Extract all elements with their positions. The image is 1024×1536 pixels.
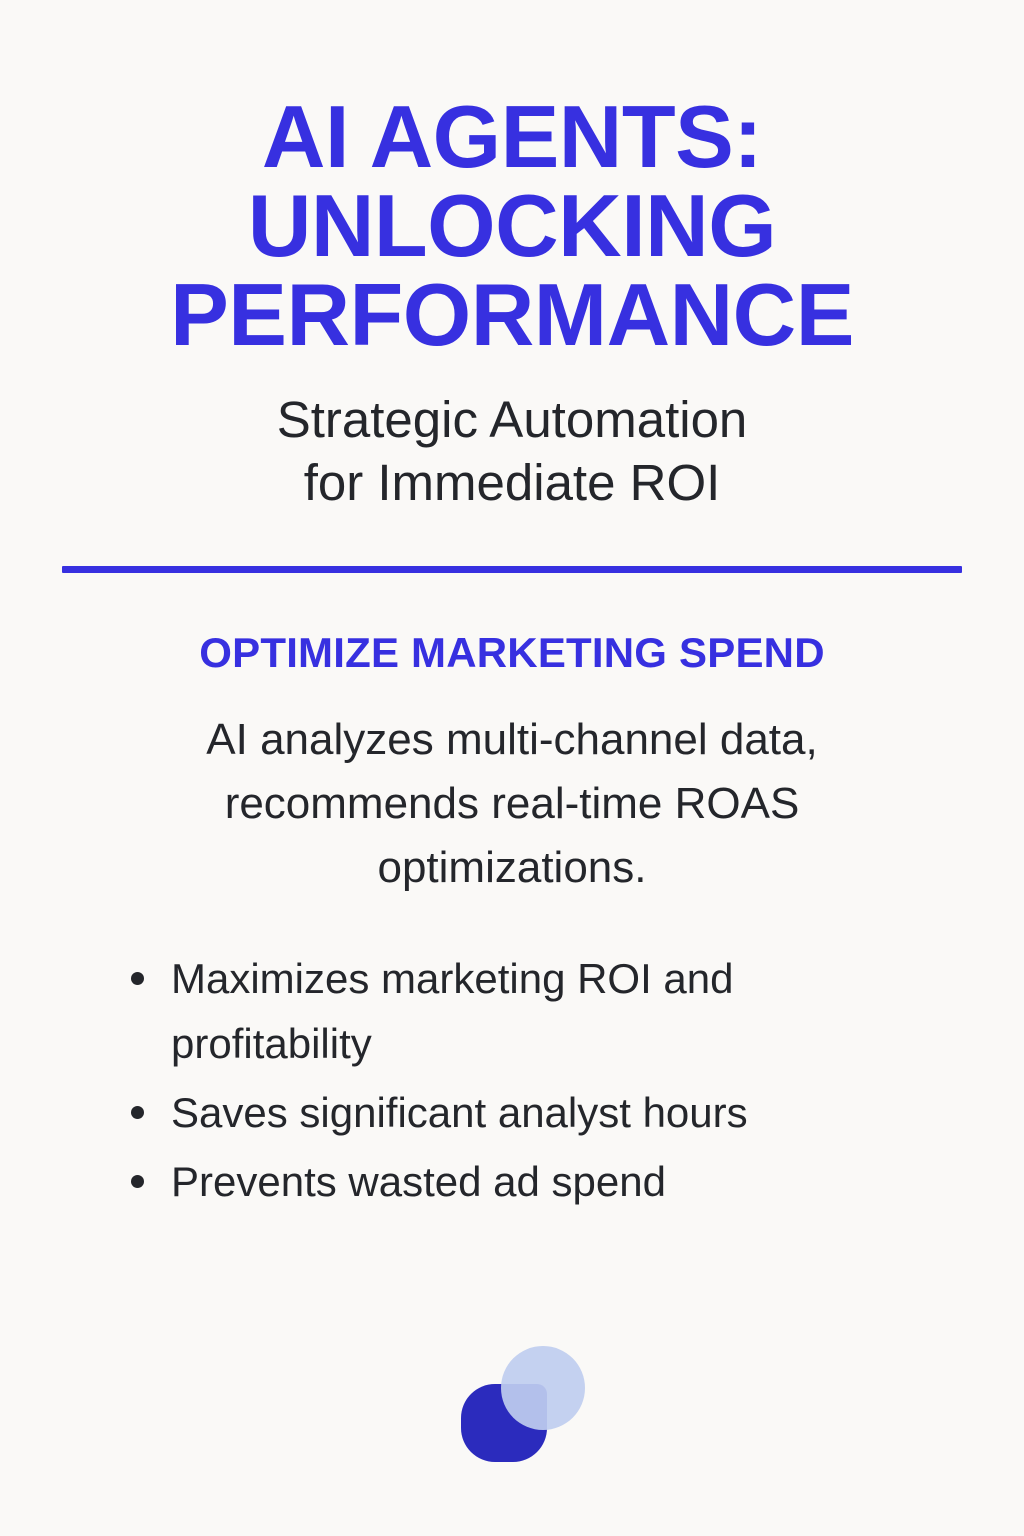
- list-item: Maximizes marketing ROI and profitabilit…: [117, 946, 907, 1076]
- list-item-label: Saves significant analyst hours: [171, 1089, 748, 1136]
- section-body-text: AI analyzes multi-channel data, recommen…: [132, 708, 892, 900]
- bullet-dot-icon: [131, 1106, 144, 1119]
- list-item: Saves significant analyst hours: [117, 1080, 907, 1145]
- logo-container: [0, 1340, 1024, 1470]
- title-block: AI AGENTS: UNLOCKING PERFORMANCE Strateg…: [0, 92, 1024, 514]
- section-heading: OPTIMIZE MARKETING SPEND: [0, 628, 1024, 678]
- bullet-dot-icon: [131, 972, 144, 985]
- list-item-label: Maximizes marketing ROI and profitabilit…: [171, 955, 734, 1067]
- list-item-label: Prevents wasted ad spend: [171, 1158, 666, 1205]
- page-title: AI AGENTS: UNLOCKING PERFORMANCE: [0, 92, 1024, 359]
- page-subtitle-line-2: for Immediate ROI: [0, 451, 1024, 514]
- page-title-line-1: AI AGENTS:: [0, 92, 1024, 181]
- section-divider: [62, 566, 962, 573]
- page-subtitle-line-1: Strategic Automation: [0, 388, 1024, 451]
- page-title-line-2: UNLOCKING: [0, 181, 1024, 270]
- content-section: OPTIMIZE MARKETING SPEND AI analyzes mul…: [0, 573, 1024, 1218]
- benefits-list: Maximizes marketing ROI and profitabilit…: [117, 946, 907, 1214]
- bullet-dot-icon: [131, 1175, 144, 1188]
- brand-logo-icon: [447, 1340, 577, 1470]
- list-item: Prevents wasted ad spend: [117, 1149, 907, 1214]
- page-subtitle: Strategic Automation for Immediate ROI: [0, 388, 1024, 514]
- logo-circle-shape: [501, 1346, 585, 1430]
- slide-card: AI AGENTS: UNLOCKING PERFORMANCE Strateg…: [0, 0, 1024, 1536]
- page-title-line-3: PERFORMANCE: [0, 270, 1024, 359]
